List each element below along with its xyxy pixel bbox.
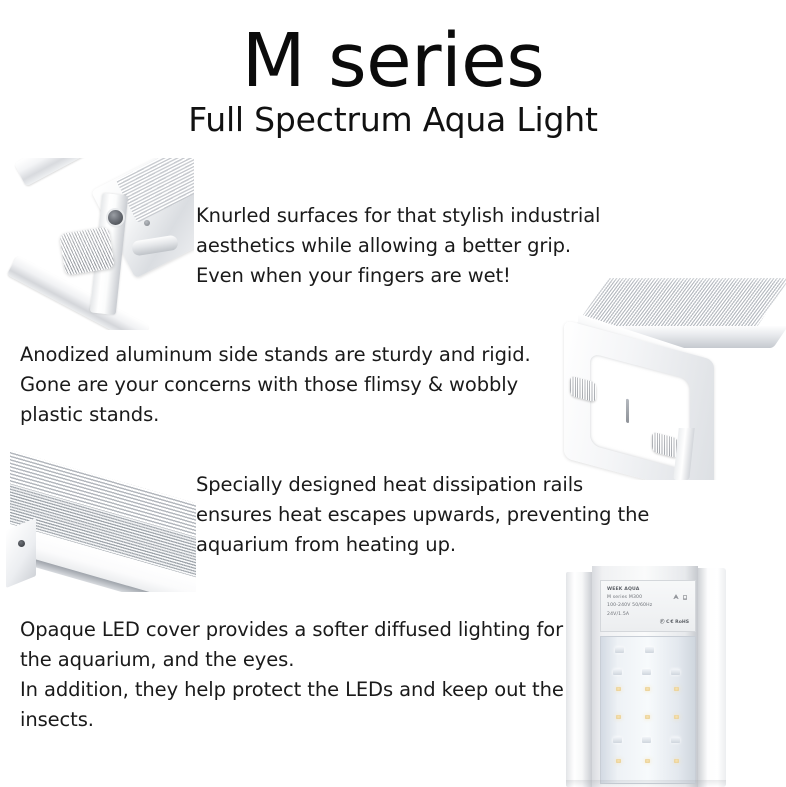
- led-cover-photo: WEEK AQUA M series M300 100-240V 50/60Hz…: [566, 566, 726, 787]
- led-chip-warm: [645, 687, 650, 691]
- led-chip-warm: [616, 715, 621, 719]
- knurled-knob: [59, 226, 115, 275]
- feature-text-heat-dissipation: Specially designed heat dissipation rail…: [196, 470, 666, 560]
- end-cap-hole-icon: [18, 540, 25, 547]
- label-brand: WEEK AQUA: [607, 586, 690, 594]
- led-chip: [613, 737, 622, 743]
- led-chip-warm: [616, 759, 621, 763]
- led-chip: [671, 669, 680, 675]
- feature-text-anodized: Anodized aluminum side stands are sturdy…: [20, 340, 560, 430]
- led-chip: [645, 647, 654, 653]
- header: M series Full Spectrum Aqua Light: [0, 24, 786, 138]
- feature-text-opaque-cover: Opaque LED cover provides a softer diffu…: [20, 615, 580, 735]
- aluminum-side-stand-photo: [556, 278, 786, 480]
- led-chip: [615, 647, 624, 653]
- fixture-left-rail: [566, 572, 592, 787]
- led-chip-warm: [674, 687, 679, 691]
- label-symbol-row: [673, 594, 688, 600]
- label-output-voltage: 24V/1.5A: [607, 611, 690, 619]
- led-chip: [613, 669, 622, 675]
- led-chip-warm: [674, 759, 679, 763]
- recycle-icon: [673, 594, 679, 600]
- knurled-thumbscrew-photo: [4, 158, 194, 330]
- bracket-slot: [626, 399, 629, 424]
- fixture-right-rail: [698, 568, 726, 787]
- page-title: M series: [0, 24, 786, 99]
- fixture-drop-shadow: [566, 780, 726, 787]
- rail-end-cap: [6, 518, 36, 588]
- led-chip-warm: [616, 687, 621, 691]
- led-chip-warm: [645, 715, 650, 719]
- certification-marks: Ⓕ C € RoHS: [660, 620, 689, 626]
- weee-bin-icon: [682, 594, 688, 600]
- led-chip: [671, 737, 680, 743]
- page-subtitle: Full Spectrum Aqua Light: [0, 103, 786, 138]
- hex-screw-head-icon: [108, 210, 123, 225]
- infographic-page: M series Full Spectrum Aqua Light Knurle…: [0, 0, 786, 787]
- opaque-led-diffuser-cover: [600, 636, 696, 784]
- led-chip: [642, 669, 651, 675]
- led-chip: [642, 737, 651, 743]
- heat-dissipation-rails-photo: [4, 440, 200, 592]
- product-spec-label: WEEK AQUA M series M300 100-240V 50/60Hz…: [600, 580, 696, 632]
- rivet-dot-icon: [144, 220, 150, 226]
- led-chip-warm: [674, 715, 679, 719]
- led-chip-warm: [645, 759, 650, 763]
- label-certification-row: Ⓕ C € RoHS: [660, 620, 689, 626]
- label-input-voltage: 100-240V 50/60Hz: [607, 602, 690, 610]
